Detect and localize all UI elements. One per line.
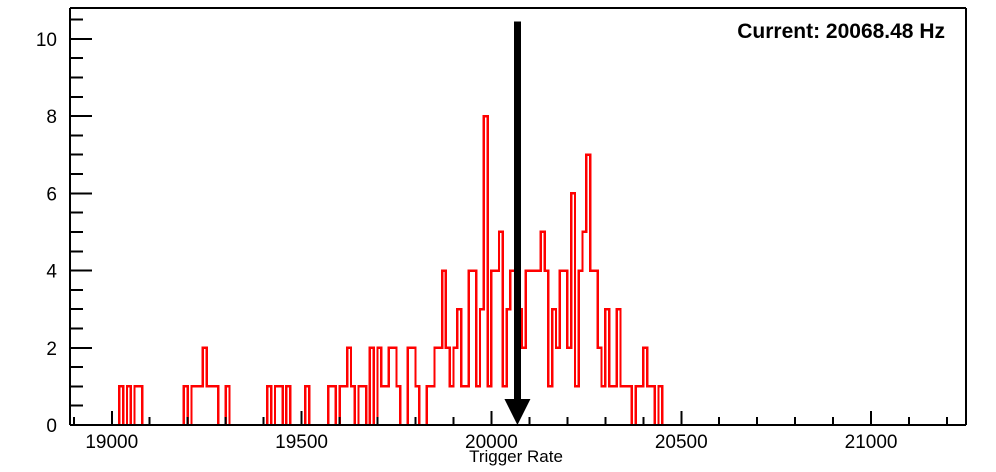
current-rate-readout: Current: 20068.48 Hz bbox=[737, 20, 945, 43]
y-tick-label: 4 bbox=[46, 262, 57, 283]
root-canvas: 02468101900019500200002050021000 Trigger… bbox=[0, 0, 996, 472]
y-tick-label: 0 bbox=[46, 416, 57, 437]
x-axis-title: Trigger Rate bbox=[469, 447, 563, 466]
x-tick-label: 19000 bbox=[85, 432, 138, 453]
y-tick-label: 2 bbox=[46, 339, 57, 360]
x-tick-label: 19500 bbox=[275, 432, 328, 453]
y-tick-label: 6 bbox=[46, 184, 57, 205]
x-tick-label: 21000 bbox=[845, 432, 898, 453]
trigger-rate-histogram-plot: 02468101900019500200002050021000 Trigger… bbox=[0, 0, 996, 472]
x-tick-label: 20500 bbox=[655, 432, 708, 453]
y-tick-label: 10 bbox=[36, 30, 57, 51]
y-tick-label: 8 bbox=[46, 107, 57, 128]
